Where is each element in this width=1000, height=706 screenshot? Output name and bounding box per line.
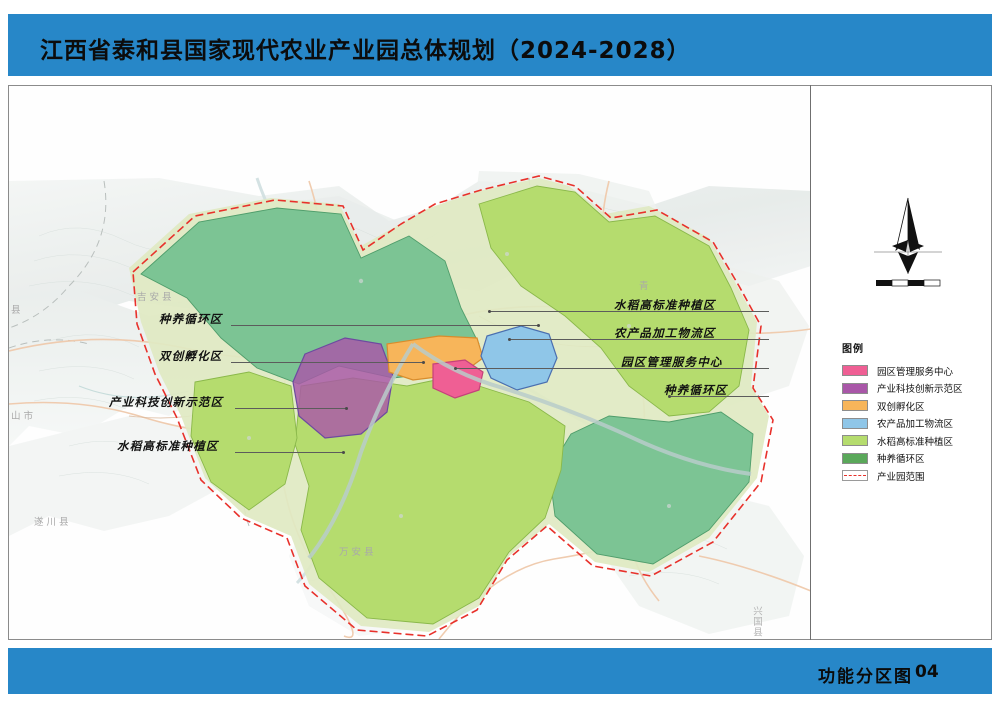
leader-line [235, 452, 344, 453]
legend-label: 产业科技创新示范区 [877, 381, 963, 395]
legend-item-logistics: 农产品加工物流区 [842, 416, 992, 431]
legend: 图例 园区管理服务中心 产业科技创新示范区 双创孵化区 农产品加工物流区 [842, 340, 992, 486]
legend-swatch-dashed [842, 470, 868, 481]
leader-line [489, 311, 769, 312]
place-label: 遂川县 [34, 514, 72, 528]
leader-line [231, 325, 539, 326]
poster-root: 江西省泰和县国家现代农业产业园总体规划（2024-2028） [0, 0, 1000, 706]
leader-dot [342, 451, 345, 454]
legend-title: 图例 [842, 340, 992, 355]
leader-line [509, 339, 769, 340]
place-label: 万安县 [339, 544, 377, 558]
legend-swatch [842, 400, 868, 411]
legend-item-rice: 水稻高标准种植区 [842, 433, 992, 448]
place-label: 吉安县 [137, 289, 175, 303]
legend-swatch [842, 365, 868, 376]
place-label: 县 [11, 302, 24, 316]
leader-line [455, 368, 769, 369]
map-annotation-incubation: 双创孵化区 [159, 348, 223, 364]
map-frame: 吉安县 遂川县 万安县 青 县 山市 兴国县 种养循环区 双创孵化区 产业科技创… [8, 85, 992, 640]
map-annotation-rice-sw: 水稻高标准种植区 [117, 438, 219, 454]
map-canvas[interactable]: 吉安县 遂川县 万安县 青 县 山市 兴国县 种养循环区 双创孵化区 产业科技创… [9, 86, 811, 639]
place-label: 青 [639, 278, 652, 292]
leader-dot [422, 361, 425, 364]
legend-label: 种养循环区 [877, 451, 925, 465]
legend-item-innovation: 产业科技创新示范区 [842, 381, 992, 396]
leader-dot [454, 367, 457, 370]
legend-item-incubation: 双创孵化区 [842, 398, 992, 413]
legend-label: 水稻高标准种植区 [877, 434, 953, 448]
leader-line [235, 408, 347, 409]
scale-bar [876, 280, 940, 286]
leader-dot [668, 395, 671, 398]
legend-item-service-center: 园区管理服务中心 [842, 363, 992, 378]
leader-dot [537, 324, 540, 327]
map-annotation-innovation: 产业科技创新示范区 [109, 394, 223, 410]
leader-dot [508, 338, 511, 341]
map-annotation-breeding-cycle-nw: 种养循环区 [159, 311, 223, 327]
legend-label: 农产品加工物流区 [877, 416, 953, 430]
leader-dot [345, 407, 348, 410]
footer-page-number: 04 [915, 662, 939, 682]
place-label-vertical: 兴国县 [749, 606, 763, 638]
leader-line [669, 396, 769, 397]
legend-swatch [842, 383, 868, 394]
north-arrow-icon [868, 192, 948, 292]
legend-label: 产业园范围 [877, 469, 925, 483]
panel-divider [810, 85, 811, 640]
legend-item-breeding-cycle: 种养循环区 [842, 451, 992, 466]
legend-label: 双创孵化区 [877, 399, 925, 413]
leader-dot [488, 310, 491, 313]
legend-swatch [842, 418, 868, 429]
legend-panel: 图例 园区管理服务中心 产业科技创新示范区 双创孵化区 农产品加工物流区 [820, 172, 992, 640]
page-title: 江西省泰和县国家现代农业产业园总体规划（2024-2028） [40, 40, 691, 63]
legend-item-park-boundary: 产业园范围 [842, 468, 992, 483]
legend-label: 园区管理服务中心 [877, 364, 953, 378]
legend-swatch [842, 453, 868, 464]
place-label: 山市 [11, 408, 36, 422]
legend-swatch [842, 435, 868, 446]
footer-title: 功能分区图 [818, 662, 913, 687]
leader-line [231, 362, 424, 363]
